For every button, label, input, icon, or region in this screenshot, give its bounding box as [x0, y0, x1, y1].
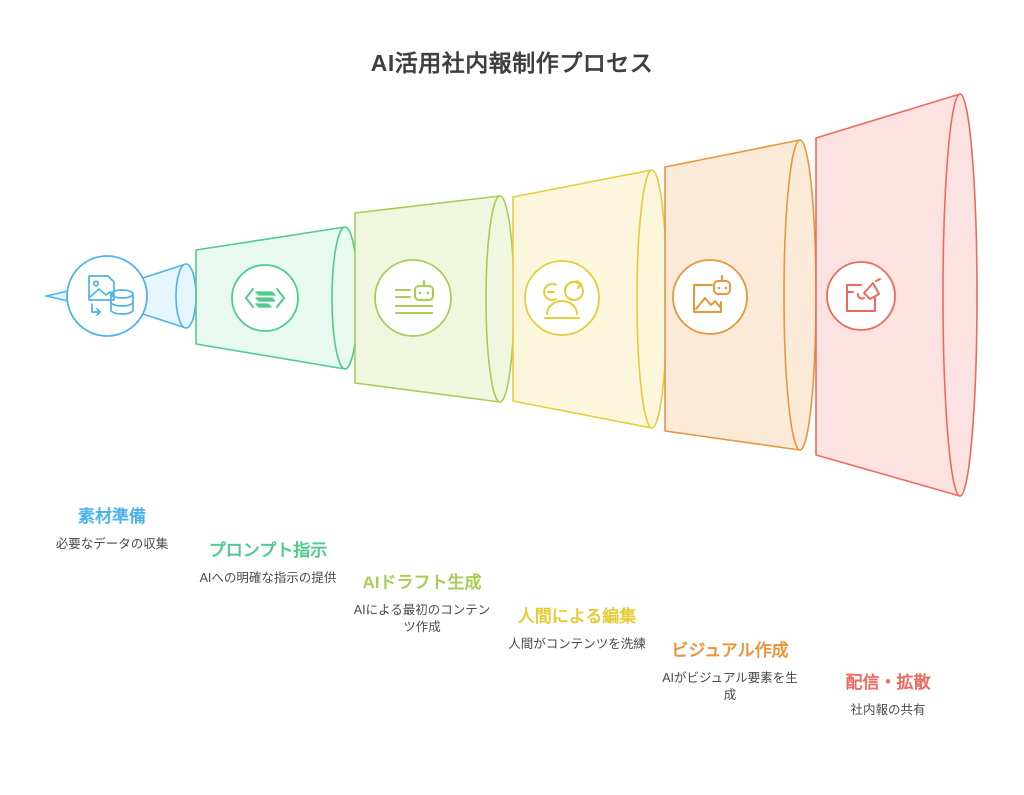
stage-description: 人間がコンテンツを洗練: [504, 636, 650, 653]
funnel-segment-human-editing[interactable]: [513, 170, 667, 428]
stage-title: 素材準備: [44, 506, 180, 529]
diagram-canvas: AI活用社内報制作プロセス: [0, 0, 1024, 795]
stage-description: AIによる最初のコンテンツ作成: [350, 602, 494, 636]
funnel-segment-material-prep[interactable]: [67, 256, 196, 336]
icon-circle-ai-draft: [375, 260, 451, 336]
stage-title: AIドラフト生成: [350, 572, 494, 595]
icon-circle-distribution: [827, 262, 895, 330]
stage-description: AIがビジュアル要素を生成: [656, 670, 804, 704]
stage-description: 社内報の共有: [818, 702, 958, 719]
funnel-segment-prompt-instruction[interactable]: [196, 227, 358, 369]
funnel-segment-ai-draft[interactable]: [355, 196, 514, 402]
stage-label-visual-creation: ビジュアル作成 AIがビジュアル要素を生成: [656, 640, 804, 704]
stage-label-material-prep: 素材準備 必要なデータの収集: [44, 506, 180, 553]
stage-title: 人間による編集: [504, 606, 650, 629]
icon-circle-material-prep: [67, 256, 147, 336]
funnel-segment-distribution[interactable]: [816, 94, 977, 496]
icon-circle-visual-creation: [673, 260, 747, 334]
stage-label-distribution: 配信・拡散 社内報の共有: [818, 672, 958, 719]
stage-description: 必要なデータの収集: [44, 536, 180, 553]
stage-description: AIへの明確な指示の提供: [196, 570, 340, 587]
stage-title: 配信・拡散: [818, 672, 958, 695]
stage-title: プロンプト指示: [196, 540, 340, 563]
stage-label-prompt-instruction: プロンプト指示 AIへの明確な指示の提供: [196, 540, 340, 587]
stage-title: ビジュアル作成: [656, 640, 804, 663]
funnel-segment-visual-creation[interactable]: [665, 140, 816, 450]
icon-circle-human-editing: [525, 261, 599, 335]
stage-label-human-editing: 人間による編集 人間がコンテンツを洗練: [504, 606, 650, 653]
stage-label-ai-draft: AIドラフト生成 AIによる最初のコンテンツ作成: [350, 572, 494, 636]
